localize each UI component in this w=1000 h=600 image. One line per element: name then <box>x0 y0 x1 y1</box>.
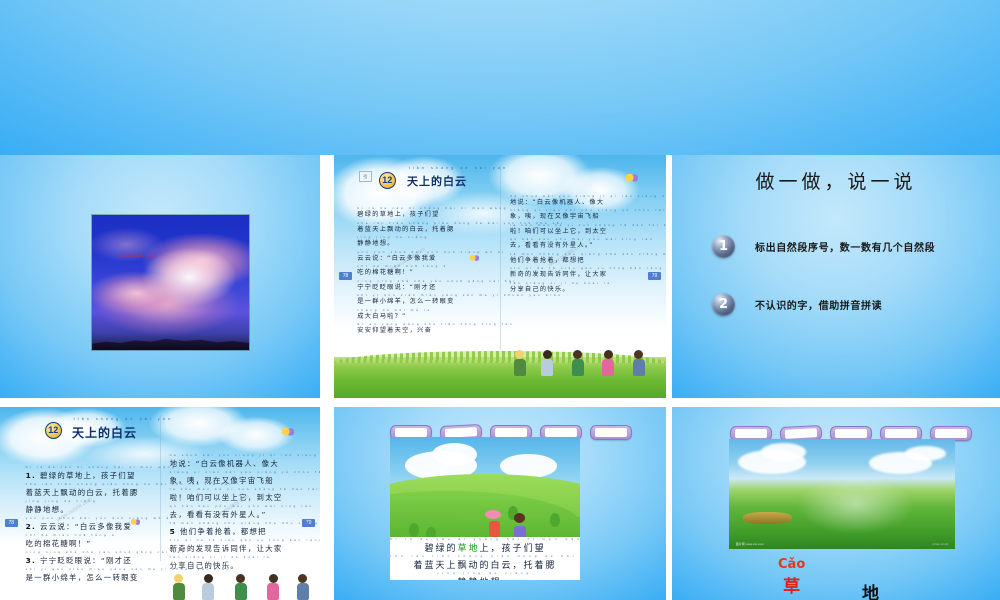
textbook-line: zhe lán tiān shàng piāo dòng de bái yún … <box>357 221 490 236</box>
bullet-number-badge-1: 1 <box>712 235 735 258</box>
textbook-line: tā men zhēng zhe qiǎng zhe dōu xiǎng bǎ5… <box>170 521 304 538</box>
page-number-left: 78 <box>5 519 18 527</box>
sun-glow <box>797 476 915 533</box>
textbook-line: níng ning zhǎ zha yǎn shuō gāng cái hái宁… <box>357 279 490 294</box>
textbook-line-text: 吃的棉花糖啊！” <box>26 537 154 550</box>
textbook-line-pinyin: zhe lán tiān shàng piāo dòng de bái yún … <box>357 221 490 225</box>
textbook-line-text: 着蓝天上飘动的白云，托着腮 <box>357 225 490 236</box>
caption-line: jìng jìng de xiǎng静静地想。 <box>390 571 580 580</box>
caption-highlight: 草地 <box>457 544 479 554</box>
slide-thumbnail-cloud-photo[interactable]: www.01ips.com <box>0 155 320 398</box>
children-hill-illustration: lalala图库 bì lǜ de cǎo dì shàng hái zi me… <box>390 437 580 580</box>
textbook-line: de shuō bái yún xiàng jī qì rén xiàng dà… <box>510 194 649 209</box>
slide-thumbnail-textbook-page[interactable]: 引 12 tiān shàng de bái yún 天上的白云 78 79 b… <box>334 155 666 398</box>
slide-thumbnail-word-cards-illustration[interactable]: lalala图库 bì lǜ de cǎo dì shàng hái zi me… <box>334 407 666 600</box>
textbook-line: bì lǜ de cǎo dì shàng hái zi men wàng碧绿的… <box>357 206 490 221</box>
textbook-scan-image-annotated: 12 tiān shàng de bái yún 天上的白云 78 79 bì … <box>0 407 320 600</box>
corner-slip-label: 引 <box>359 171 372 182</box>
fallen-log-shape <box>743 512 793 524</box>
bullet-text-2: 不认识的字，借助拼音拼读 <box>755 297 882 312</box>
caption-line: bì lǜ de cǎo dì shàng hái zi men wàng碧绿的… <box>390 537 580 554</box>
textbook-line-text: 吃的棉花糖啊！” <box>357 268 490 279</box>
cloud-photo-image: www.01ips.com <box>92 215 249 350</box>
textbook-line: níng ning zhǎ zha yǎn shuō gāng cái hái3… <box>26 550 154 567</box>
textbook-line: xīn qí de fā xiàn gào su tóng bàn ràng d… <box>510 266 649 281</box>
textbook-line: de shuō bái yún xiàng jī qì rén xiàng dà… <box>170 453 304 470</box>
girl-body-shape <box>489 521 500 537</box>
word-card-5[interactable] <box>590 425 632 440</box>
illustration-caption: bì lǜ de cǎo dì shàng hái zi men wàng碧绿的… <box>390 537 580 580</box>
bullet-text-1: 标出自然段序号，数一数有几个自然段 <box>755 239 935 254</box>
paragraph-number: 5 <box>170 527 180 536</box>
page-number-left: 78 <box>339 272 352 280</box>
slide-thumbnail-activity[interactable]: 做一做，说一说 1 标出自然段序号，数一数有几个自然段 2 不认识的字，借助拼音… <box>672 155 1000 398</box>
textbook-line-text: 是一群小绵羊，怎么一转眼变 <box>357 297 490 308</box>
grassland-photo: 图片网 www.xxx.com photo credit <box>729 439 955 549</box>
photo-credit-right: photo credit <box>933 542 949 546</box>
children-illustration <box>507 289 660 376</box>
tree-shape <box>409 523 419 537</box>
textbook-line: ān an yǎng wàng zhe tiān kōng xīng fèn安安… <box>357 322 490 337</box>
slide-thumbnail-title-banner[interactable] <box>0 0 1000 155</box>
vocab-char-black: 地 <box>862 579 879 600</box>
caption-line: zhe lán tiān shàng piāo dòng de bái yún … <box>390 554 580 571</box>
lesson-title-pinyin: tiān shàng de bái yún <box>409 166 508 170</box>
textbook-line: la zán men kě yǐ zuò shàng tā dào tài kō… <box>510 223 649 238</box>
textbook-line-text: 1. 碧绿的草地上，孩子们望 <box>26 469 154 482</box>
textbook-line-text: 3. 宁宁眨眨眼说：“刚才还 <box>26 554 154 567</box>
textbook-line-text: 地说：“白云像机器人、像大 <box>510 198 649 209</box>
caption-text: 静静地想。 <box>390 575 580 580</box>
textbook-line-text: 地说：“白云像机器人、像大 <box>170 457 304 470</box>
lesson-title: 天上的白云 <box>407 173 467 189</box>
textbook-line-text: 成大白马啦？” <box>357 312 490 323</box>
paragraph-number: 2. <box>26 522 40 531</box>
textbook-line-text: 静静地想。 <box>26 503 154 516</box>
girl-hat-shape <box>485 510 501 519</box>
textbook-scan-image: 引 12 tiān shàng de bái yún 天上的白云 78 79 b… <box>334 155 666 398</box>
slide-title: 做一做，说一说 <box>672 167 1000 194</box>
textbook-line-text: 碧绿的草地上，孩子们望 <box>357 210 490 221</box>
children-illustration <box>166 554 313 600</box>
cloud-shape <box>432 443 478 466</box>
textbook-line-text: 新奇的发现告诉同伴，让大家 <box>510 270 649 281</box>
slide-thumbnail-grid: www.01ips.com 引 12 tiān shàng de bái yún… <box>0 0 1000 600</box>
textbook-line-text: 是一群小绵羊，怎么一转眼变 <box>26 571 154 584</box>
textbook-line-text: 去，看看有没有外星人。” <box>170 508 304 521</box>
textbook-left-column: bì lǜ de cǎo dì shàng hái zi men wàng碧绿的… <box>357 206 490 337</box>
lesson-title: 天上的白云 <box>72 424 137 441</box>
textbook-line-text: 啦！咱们可以坐上它，到太空 <box>510 227 649 238</box>
textbook-line: chī de mián huā táng a吃的棉花糖啊！” <box>26 533 154 550</box>
textbook-line-text: 5 他们争着抢着，都想把 <box>170 525 304 538</box>
bullet-item-1: 1 标出自然段序号，数一数有几个自然段 <box>712 235 935 258</box>
textbook-line: shì yì qún xiǎo mián yáng zěn me yì zhuǎ… <box>26 567 154 584</box>
textbook-line: xiàng yí xiàn zài yòu xiàng yǔ zhòu fēi … <box>510 208 649 223</box>
butterfly-icon <box>470 255 479 262</box>
vocab-word-second-char-block: 地 <box>862 579 879 600</box>
caption-text: 着蓝天上飘动的白云，托着腮 <box>390 558 580 571</box>
bullet-item-2: 2 不认识的字，借助拼音拼读 <box>712 293 882 316</box>
paragraph-number: 3. <box>26 556 40 565</box>
horizon-silhouette <box>92 334 249 350</box>
bullet-number-badge-2: 2 <box>712 293 735 316</box>
bee-icon <box>626 174 638 183</box>
tree-shape <box>550 513 560 527</box>
textbook-line-text: 宁宁眨眨眼说：“刚才还 <box>357 283 490 294</box>
vocab-word-pinyin-block: Cǎo 草 <box>778 557 805 597</box>
textbook-line: xiàng yí xiàn zài yòu xiàng yǔ zhòu fēi … <box>170 470 304 487</box>
textbook-line: bì lǜ de cǎo dì shàng hái zi men wàng1. … <box>26 465 154 482</box>
caption-text: 碧绿的草地上，孩子们望 <box>390 541 580 554</box>
textbook-line: shì yì qún xiǎo mián yáng zěn me yì zhuǎ… <box>357 293 490 308</box>
photo-watermark: www.01ips.com <box>119 253 156 258</box>
cloud-shape <box>905 446 946 461</box>
cloud-shape <box>761 443 806 461</box>
bee-icon <box>282 428 294 437</box>
lesson-title-pinyin: tiān shàng de bái yún <box>74 417 173 421</box>
textbook-line-text: 象，咦，现在又像宇宙飞船 <box>170 474 304 487</box>
book-gutter <box>160 415 161 562</box>
textbook-line-text: 他们争着抢着，都想把 <box>510 256 649 267</box>
textbook-line: chī de mián huā táng a吃的棉花糖啊！” <box>357 264 490 279</box>
slide-thumbnail-textbook-annotated[interactable]: 12 tiān shàng de bái yún 天上的白云 78 79 bì … <box>0 407 320 600</box>
textbook-line-text: 象，咦，现在又像宇宙飞船 <box>510 212 649 223</box>
textbook-line-pinyin: níng ning zhǎ zha yǎn shuō gāng cái hái <box>357 279 490 283</box>
butterfly-icon <box>131 519 140 526</box>
page-number-right: 79 <box>648 272 661 280</box>
textbook-line-text: 安安仰望着天空，兴奋 <box>357 326 490 337</box>
boy-head-shape <box>514 513 525 523</box>
textbook-line: chéng dà bái mǎ la成大白马啦？” <box>357 308 490 323</box>
lesson-number-badge: 12 <box>379 172 396 189</box>
photo-credit-left: 图片网 www.xxx.com <box>736 542 764 546</box>
textbook-line: tā men zhēng zhe qiǎng zhe dōu xiǎng bǎ他… <box>510 252 649 267</box>
paragraph-number: 1. <box>26 471 40 480</box>
slide-thumbnail-grassland-word[interactable]: 图片网 www.xxx.com photo credit Cǎo 草 地 <box>672 407 1000 600</box>
vocab-pinyin: Cǎo <box>778 557 805 572</box>
vocab-char-red: 草 <box>778 572 805 597</box>
